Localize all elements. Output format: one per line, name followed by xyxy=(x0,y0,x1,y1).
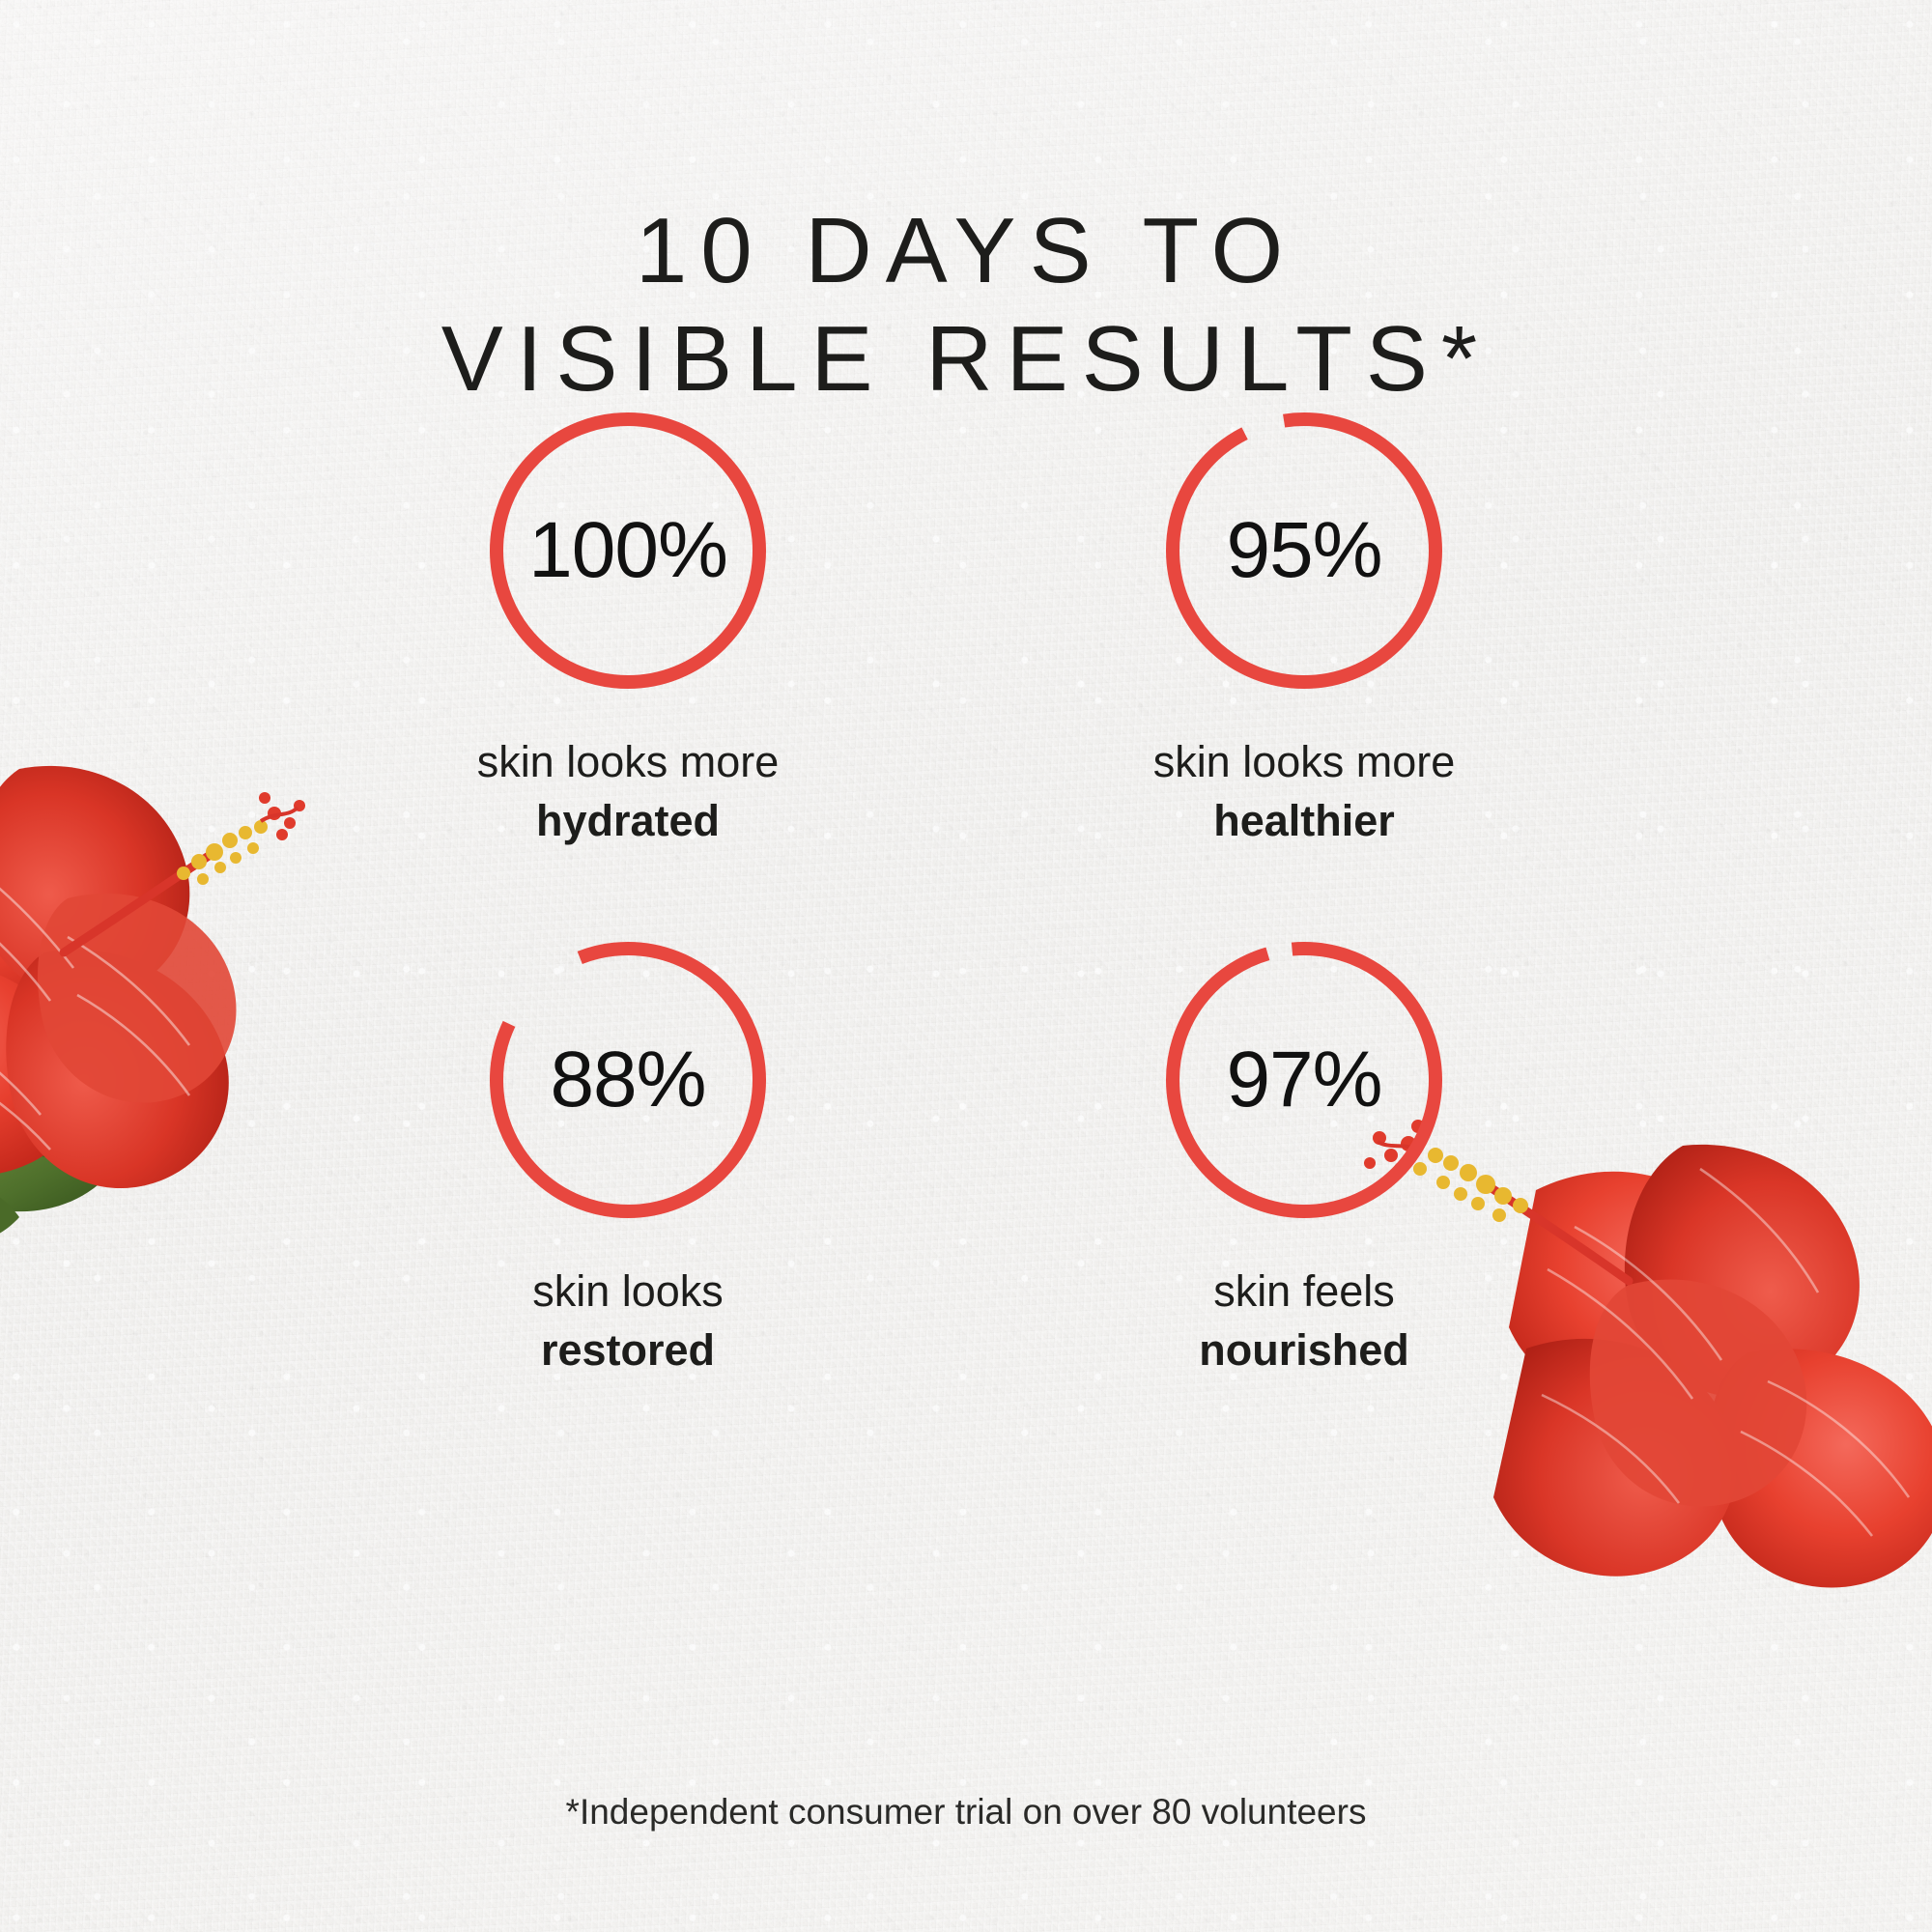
stats-row-spacer xyxy=(290,848,1642,935)
footnote-text: *Independent consumer trial on over 80 v… xyxy=(0,1792,1932,1833)
headline-line-1: 10 DAYS TO xyxy=(0,197,1932,304)
stats-row-bottom: 88% skin looks restored 97% skin feels n… xyxy=(290,935,1642,1378)
stat-value-nourished: 97% xyxy=(1159,935,1449,1225)
stat-value-restored: 88% xyxy=(483,935,773,1225)
donut-chart-restored: 88% xyxy=(483,935,773,1225)
stat-card-restored: 88% skin looks restored xyxy=(290,935,966,1378)
stat-caption-hydrated: skin looks more hydrated xyxy=(477,736,780,848)
donut-chart-nourished: 97% xyxy=(1159,935,1449,1225)
stat-caption-healthier: skin looks more healthier xyxy=(1153,736,1456,848)
page-title: 10 DAYS TO VISIBLE RESULTS* xyxy=(0,197,1932,412)
stat-caption-line1-nourished: skin feels xyxy=(1199,1265,1409,1319)
results-stats-grid: 100% skin looks more hydrated 95% skin l… xyxy=(290,406,1642,1378)
stat-caption-line1-restored: skin looks xyxy=(532,1265,724,1319)
stat-caption-line2-healthier: healthier xyxy=(1153,795,1456,848)
stat-caption-line1-hydrated: skin looks more xyxy=(477,736,780,789)
stat-caption-line2-restored: restored xyxy=(532,1324,724,1378)
stat-caption-nourished: skin feels nourished xyxy=(1199,1265,1409,1378)
donut-chart-hydrated: 100% xyxy=(483,406,773,696)
stat-caption-line1-healthier: skin looks more xyxy=(1153,736,1456,789)
stat-caption-restored: skin looks restored xyxy=(532,1265,724,1378)
stat-card-nourished: 97% skin feels nourished xyxy=(966,935,1642,1378)
stat-caption-line2-hydrated: hydrated xyxy=(477,795,780,848)
donut-chart-healthier: 95% xyxy=(1159,406,1449,696)
stat-value-hydrated: 100% xyxy=(483,406,773,696)
stat-caption-line2-nourished: nourished xyxy=(1199,1324,1409,1378)
headline-line-2: VISIBLE RESULTS* xyxy=(0,305,1932,412)
stats-row-top: 100% skin looks more hydrated 95% skin l… xyxy=(290,406,1642,848)
stat-card-healthier: 95% skin looks more healthier xyxy=(966,406,1642,848)
stat-value-healthier: 95% xyxy=(1159,406,1449,696)
stat-card-hydrated: 100% skin looks more hydrated xyxy=(290,406,966,848)
